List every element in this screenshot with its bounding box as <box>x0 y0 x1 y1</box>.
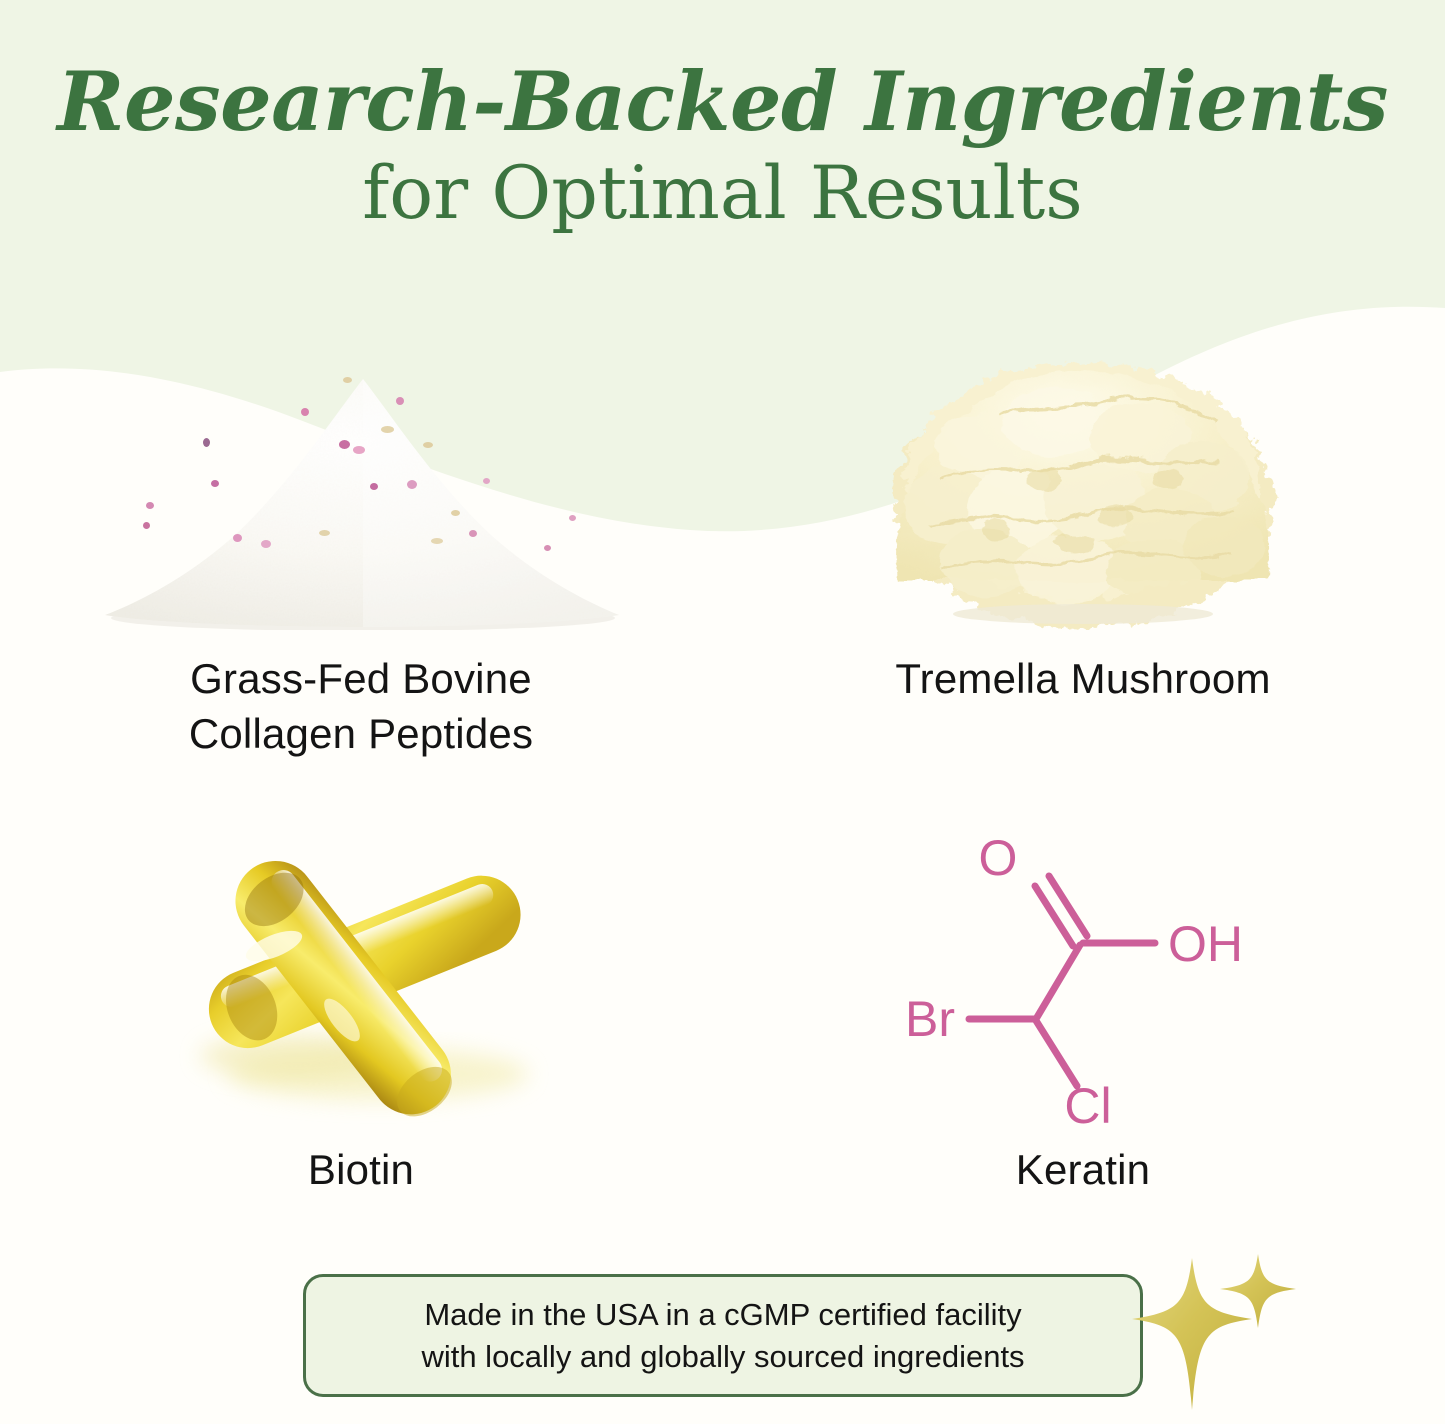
powder-speck <box>339 440 350 449</box>
powder-speck <box>451 510 460 516</box>
header: Research-Backed Ingredients for Optimal … <box>0 0 1445 238</box>
certification-banner: Made in the USA in a cGMP certified faci… <box>303 1274 1143 1397</box>
powder-speck <box>483 478 490 484</box>
softgel-capsules-shape <box>146 838 576 1128</box>
page-title-line-1: Research-Backed Ingredients <box>0 62 1445 145</box>
biotin-softgel-capsules-image <box>146 838 576 1128</box>
biotin-art-area <box>0 833 722 1133</box>
powder-speck <box>544 545 551 551</box>
powder-speck <box>431 538 443 544</box>
certification-line-1: Made in the USA in a cGMP certified faci… <box>421 1294 1024 1335</box>
sparkle-large-icon <box>1132 1258 1252 1410</box>
molecule-bonds <box>969 876 1155 1086</box>
ingredient-label-biotin: Biotin <box>308 1143 414 1198</box>
powder-speck <box>396 397 404 405</box>
atom-label-cl: Cl <box>1064 1078 1111 1133</box>
ingredient-label-line-1: Keratin <box>1016 1143 1150 1198</box>
powder-speck <box>423 442 433 448</box>
ingredient-card-collagen: Grass-Fed Bovine Collagen Peptides <box>0 300 722 761</box>
powder-cone-shape <box>91 375 631 630</box>
ingredient-label-tremella: Tremella Mushroom <box>895 652 1270 707</box>
powder-speck <box>261 540 271 548</box>
keratin-molecule-diagram: O OH Br Cl <box>883 833 1283 1133</box>
atom-label-br: Br <box>905 991 955 1047</box>
powder-speck <box>211 480 219 487</box>
ingredient-label-line-1: Grass-Fed Bovine <box>189 652 533 707</box>
ingredient-label-line-1: Biotin <box>308 1143 414 1198</box>
powder-speck <box>301 408 309 416</box>
ingredient-label-collagen: Grass-Fed Bovine Collagen Peptides <box>189 652 533 761</box>
certification-banner-zone: Made in the USA in a cGMP certified faci… <box>0 1250 1445 1424</box>
page-title-line-2: for Optimal Results <box>0 149 1445 238</box>
powder-speck <box>203 438 210 447</box>
powder-speck <box>407 480 417 489</box>
collagen-art-area <box>0 300 722 630</box>
ingredient-label-line-1: Tremella Mushroom <box>895 652 1270 707</box>
ingredient-row-1: Grass-Fed Bovine Collagen Peptides <box>0 300 1445 761</box>
certification-line-2: with locally and globally sourced ingred… <box>421 1336 1024 1377</box>
atom-label-oh: OH <box>1168 916 1243 972</box>
powder-speck <box>353 446 365 454</box>
certification-banner-text: Made in the USA in a cGMP certified faci… <box>397 1294 1048 1376</box>
powder-speck <box>146 502 154 509</box>
collagen-powder-pile-image <box>91 330 631 630</box>
keratin-art-area: O OH Br Cl <box>722 833 1444 1133</box>
powder-speck <box>381 426 394 433</box>
tremella-art-area <box>722 300 1444 630</box>
ingredient-card-keratin: O OH Br Cl Keratin <box>722 833 1444 1198</box>
ingredient-grid: Grass-Fed Bovine Collagen Peptides <box>0 300 1445 1198</box>
sparkle-group <box>1130 1250 1310 1424</box>
powder-speck <box>343 377 352 383</box>
powder-speck <box>319 530 330 536</box>
powder-speck <box>370 483 378 490</box>
powder-speck <box>233 534 242 542</box>
powder-speck <box>569 515 576 521</box>
atom-label-o: O <box>979 833 1018 886</box>
ingredient-label-keratin: Keratin <box>1016 1143 1150 1198</box>
molecule-atom-labels: O OH Br Cl <box>905 833 1243 1133</box>
ingredient-card-tremella: Tremella Mushroom <box>722 300 1444 761</box>
tremella-shape <box>868 330 1298 630</box>
sparkle-small-icon <box>1220 1254 1296 1328</box>
powder-speck <box>143 522 150 529</box>
ingredient-infographic: Research-Backed Ingredients for Optimal … <box>0 0 1445 1424</box>
molecule-structure: O OH Br Cl <box>883 833 1283 1133</box>
tremella-mushroom-image <box>868 330 1298 630</box>
ingredient-row-2: Biotin <box>0 833 1445 1198</box>
ingredient-label-line-2: Collagen Peptides <box>189 707 533 762</box>
powder-speck <box>469 530 477 537</box>
ingredient-card-biotin: Biotin <box>0 833 722 1198</box>
